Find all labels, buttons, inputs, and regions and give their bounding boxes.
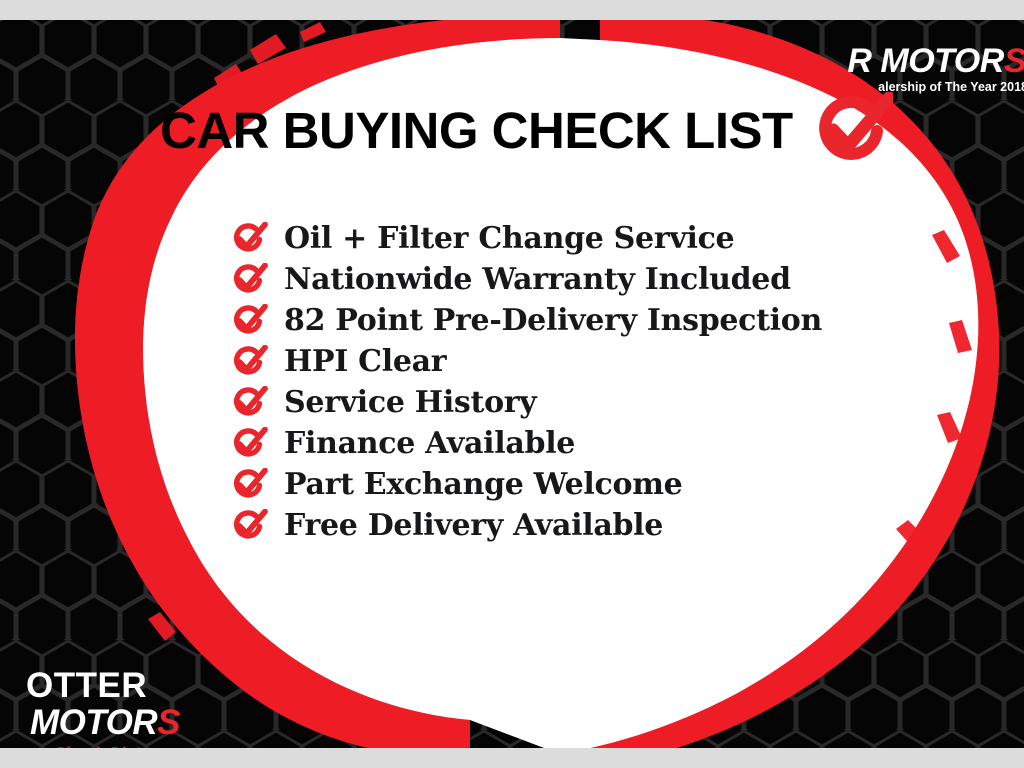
list-item[interactable]: Part Exchange Welcome <box>228 464 822 505</box>
list-item[interactable]: Free Delivery Available <box>228 505 822 546</box>
logo-line-otter: OTTER <box>26 668 206 704</box>
page-title: CAR BUYING CHECK LIST <box>160 101 793 160</box>
dealer-wordmark-accent: S <box>1004 42 1024 80</box>
circle-check-icon <box>228 263 268 297</box>
list-item[interactable]: Oil + Filter Change Service <box>228 218 822 259</box>
list-item-label: Service History <box>284 386 536 420</box>
dealer-wordmark-main: R MOTOR <box>847 42 1003 80</box>
slide-content: CAR BUYING CHECK LIST Oil + Filter Chang… <box>0 20 1024 748</box>
list-item-label: Oil + Filter Change Service <box>284 222 734 256</box>
list-item[interactable]: Nationwide Warranty Included <box>228 259 822 300</box>
circle-check-icon <box>228 427 268 461</box>
letterbox-bar-bottom <box>0 748 1024 768</box>
list-item-label: 82 Point Pre-Delivery Inspection <box>284 304 822 338</box>
letterbox-bar-top <box>0 0 1024 20</box>
list-item-label: Free Delivery Available <box>284 509 663 543</box>
dealer-logo-top-right: R MOTORS alership of The Year 2018 <box>836 40 1024 98</box>
circle-check-icon <box>228 509 268 543</box>
dealer-wordmark: R MOTORS <box>847 42 1024 81</box>
list-item-label: Part Exchange Welcome <box>284 468 682 502</box>
list-item[interactable]: Service History <box>228 382 822 423</box>
list-item[interactable]: Finance Available <box>228 423 822 464</box>
list-item[interactable]: 82 Point Pre-Delivery Inspection <box>228 300 822 341</box>
dealer-logo-bottom-left: OTTER MOTORS Check List <box>26 668 206 760</box>
list-item-label: Nationwide Warranty Included <box>284 263 791 297</box>
circle-check-icon <box>228 386 268 420</box>
checklist: Oil + Filter Change Service Nationwide W… <box>228 218 822 546</box>
logo-motors-accent: S <box>157 703 180 742</box>
circle-check-icon <box>228 304 268 338</box>
logo-line-motors: MOTORS <box>30 704 206 742</box>
list-item-label: HPI Clear <box>284 345 446 379</box>
circle-check-icon <box>807 92 893 168</box>
circle-check-icon <box>228 345 268 379</box>
list-item-label: Finance Available <box>284 427 575 461</box>
circle-check-icon <box>228 468 268 502</box>
page-title-row: CAR BUYING CHECK LIST <box>160 92 893 168</box>
list-item[interactable]: HPI Clear <box>228 341 822 382</box>
logo-motors-main: MOTOR <box>30 703 157 742</box>
dealer-tagline: alership of The Year 2018 <box>878 80 1024 94</box>
slide-canvas: CAR BUYING CHECK LIST Oil + Filter Chang… <box>0 0 1024 768</box>
circle-check-icon <box>228 222 268 256</box>
